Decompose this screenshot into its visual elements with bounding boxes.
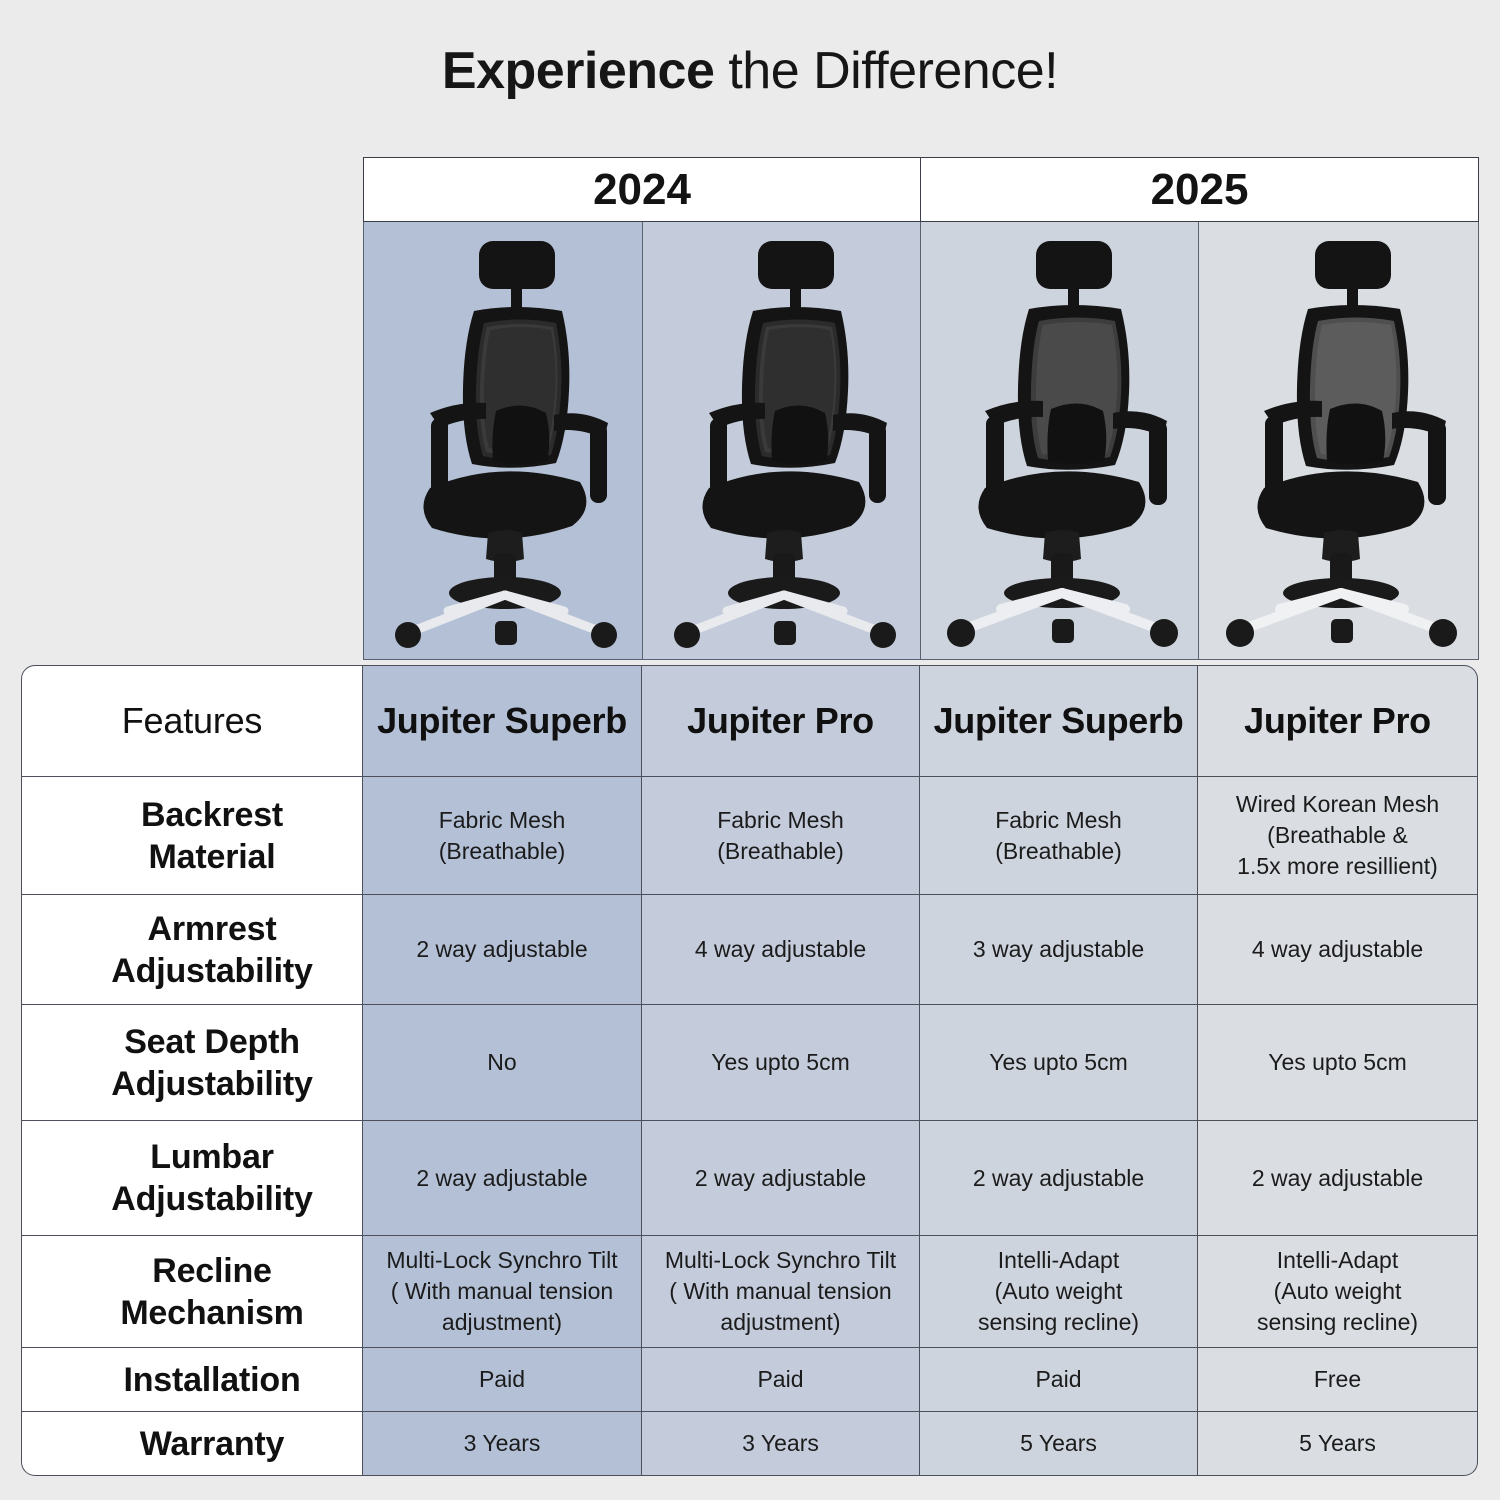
cell-backrest-material-4: Wired Korean Mesh (Breathable & 1.5x mor… — [1198, 777, 1478, 895]
product-header-4: Jupiter Pro — [1198, 665, 1478, 777]
cell-backrest-material-2: Fabric Mesh (Breathable) — [642, 777, 920, 895]
year-image-table: 2024 2025 — [363, 157, 1479, 660]
cell-recline-4: Intelli-Adapt (Auto weight sensing recli… — [1198, 1236, 1478, 1348]
table-row: Warranty 3 Years 3 Years 5 Years 5 Years — [21, 1412, 1478, 1476]
table-row: Seat Depth Adjustability No Yes upto 5cm… — [21, 1005, 1478, 1121]
cell-seat-depth-4: Yes upto 5cm — [1198, 1005, 1478, 1121]
cell-armrest-adjustability-2: 4 way adjustable — [642, 895, 920, 1005]
cell-seat-depth-3: Yes upto 5cm — [920, 1005, 1198, 1121]
feature-label-line2: Adjustability — [62, 950, 362, 992]
cell-armrest-adjustability-1: 2 way adjustable — [363, 895, 642, 1005]
year-header-2024: 2024 — [364, 158, 921, 222]
cell-warranty-4: 5 Years — [1198, 1412, 1478, 1476]
cell-warranty-3: 5 Years — [920, 1412, 1198, 1476]
feature-label-recline-mechanism: Recline Mechanism — [21, 1236, 363, 1348]
office-chair-icon — [935, 233, 1185, 653]
feature-label-warranty: Warranty — [21, 1412, 363, 1476]
cell-backrest-material-3: Fabric Mesh (Breathable) — [920, 777, 1198, 895]
page-title: Experience the Difference! — [0, 40, 1500, 102]
feature-label-line2: Adjustability — [62, 1063, 362, 1105]
cell-lumbar-1: 2 way adjustable — [363, 1121, 642, 1236]
cell-warranty-2: 3 Years — [642, 1412, 920, 1476]
feature-label-line1: Backrest — [62, 794, 362, 836]
cell-warranty-1: 3 Years — [363, 1412, 642, 1476]
table-row: Lumbar Adjustability 2 way adjustable 2 … — [21, 1121, 1478, 1236]
cell-armrest-adjustability-3: 3 way adjustable — [920, 895, 1198, 1005]
table-row: Backrest Material Fabric Mesh (Breathabl… — [21, 777, 1478, 895]
feature-label-line1: Lumbar — [62, 1136, 362, 1178]
cell-backrest-material-1: Fabric Mesh (Breathable) — [363, 777, 642, 895]
product-image-cell-3 — [921, 222, 1199, 660]
product-image-cell-2 — [643, 222, 921, 660]
feature-label-line1: Recline — [62, 1250, 362, 1292]
product-image-cell-1 — [364, 222, 643, 660]
table-row: Armrest Adjustability 2 way adjustable 4… — [21, 895, 1478, 1005]
feature-label-line2: Material — [62, 836, 362, 878]
table-row: Recline Mechanism Multi-Lock Synchro Til… — [21, 1236, 1478, 1348]
product-header-3: Jupiter Superb — [920, 665, 1198, 777]
feature-label-line1: Armrest — [62, 908, 362, 950]
feature-label-seat-depth-adjustability: Seat Depth Adjustability — [21, 1005, 363, 1121]
cell-lumbar-4: 2 way adjustable — [1198, 1121, 1478, 1236]
feature-label-line2: Mechanism — [62, 1292, 362, 1334]
cell-installation-3: Paid — [920, 1348, 1198, 1412]
product-header-1: Jupiter Superb — [363, 665, 642, 777]
page-title-rest: the Difference! — [714, 42, 1058, 100]
product-header-2: Jupiter Pro — [642, 665, 920, 777]
cell-installation-4: Free — [1198, 1348, 1478, 1412]
feature-label-lumbar-adjustability: Lumbar Adjustability — [21, 1121, 363, 1236]
cell-lumbar-2: 2 way adjustable — [642, 1121, 920, 1236]
cell-recline-3: Intelli-Adapt (Auto weight sensing recli… — [920, 1236, 1198, 1348]
cell-recline-2: Multi-Lock Synchro Tilt ( With manual te… — [642, 1236, 920, 1348]
feature-label-backrest-material: Backrest Material — [21, 777, 363, 895]
feature-comparison-table: Features Jupiter Superb Jupiter Pro Jupi… — [21, 665, 1478, 1476]
cell-lumbar-3: 2 way adjustable — [920, 1121, 1198, 1236]
product-image-row — [364, 222, 1479, 660]
cell-armrest-adjustability-4: 4 way adjustable — [1198, 895, 1478, 1005]
table-row: Installation Paid Paid Paid Free — [21, 1348, 1478, 1412]
feature-label-line1: Seat Depth — [62, 1021, 362, 1063]
cell-seat-depth-2: Yes upto 5cm — [642, 1005, 920, 1121]
cell-installation-2: Paid — [642, 1348, 920, 1412]
cell-recline-1: Multi-Lock Synchro Tilt ( With manual te… — [363, 1236, 642, 1348]
feature-label-armrest-adjustability: Armrest Adjustability — [21, 895, 363, 1005]
feature-label-installation: Installation — [21, 1348, 363, 1412]
office-chair-icon — [378, 233, 628, 653]
office-chair-icon — [1214, 233, 1464, 653]
table-header-row: Features Jupiter Superb Jupiter Pro Jupi… — [21, 665, 1478, 777]
feature-label-line2: Adjustability — [62, 1178, 362, 1220]
feature-label-line1: Warranty — [62, 1423, 362, 1465]
features-header-cell: Features — [21, 665, 363, 777]
page-title-bold: Experience — [442, 42, 715, 100]
feature-label-line1: Installation — [62, 1359, 362, 1401]
product-image-cell-4 — [1199, 222, 1479, 660]
year-header-row: 2024 2025 — [364, 158, 1479, 222]
year-header-2025: 2025 — [921, 158, 1479, 222]
office-chair-icon — [657, 233, 907, 653]
cell-installation-1: Paid — [363, 1348, 642, 1412]
cell-seat-depth-1: No — [363, 1005, 642, 1121]
